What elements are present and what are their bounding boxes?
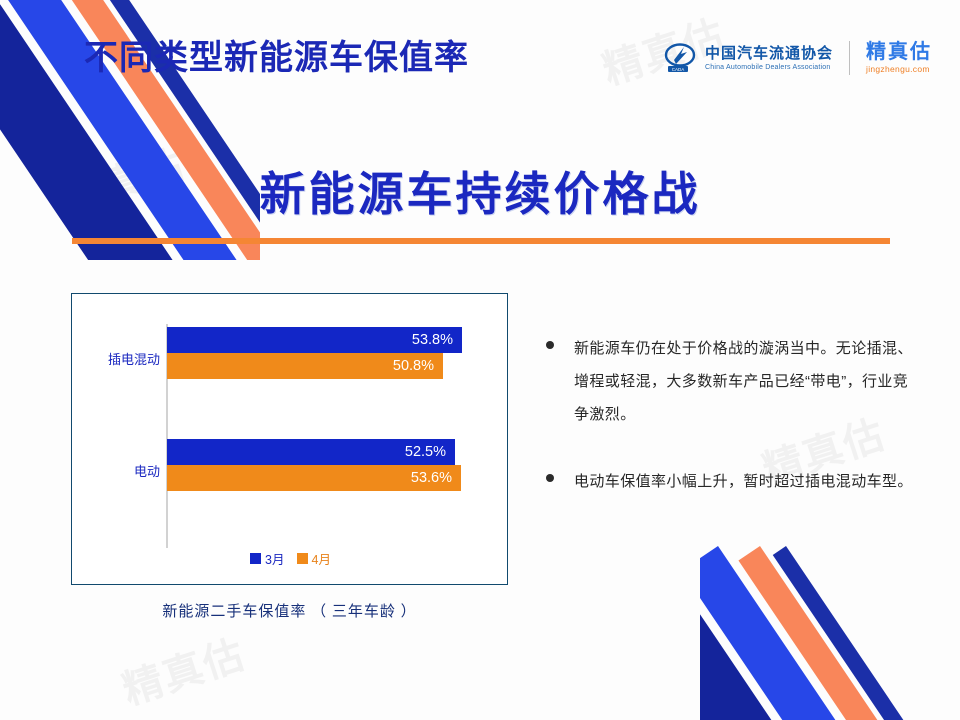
bullet-item: 电动车保值率小幅上升，暂时超过插电混动车型。	[540, 465, 920, 498]
cada-name-en: China Automobile Dealers Association	[705, 64, 833, 71]
svg-text:CADA: CADA	[672, 67, 685, 72]
chart-bar: 53.8%	[167, 327, 462, 353]
chart-plot-area: 插电混动 电动 53.8% 50.8% 52.5% 53.6% 3月	[72, 294, 509, 586]
slide-canvas: 精真估 精真估 精真估 精真估 不同类型新能源车保值率 CADA	[0, 0, 960, 720]
bullet-dot-icon	[546, 474, 554, 482]
chart-bar: 53.6%	[167, 465, 461, 491]
jingzhengu-logo: 精真估 jingzhengu.com	[866, 42, 932, 74]
main-title: 新能源车持续价格战	[0, 158, 960, 224]
logo-bar: CADA 中国汽车流通协会 China Automobile Dealers A…	[664, 36, 932, 80]
chart-bar-value: 53.8%	[412, 332, 453, 348]
bullet-dot-icon	[546, 341, 554, 349]
watermark: 精真估	[114, 622, 252, 716]
bullet-text: 电动车保值率小幅上升，暂时超过插电混动车型。	[574, 465, 913, 498]
header-title: 不同类型新能源车保值率	[84, 30, 469, 79]
chart-bar: 50.8%	[167, 353, 443, 379]
legend-label: 4月	[312, 549, 331, 568]
chart-category-label: 插电混动	[108, 349, 160, 368]
legend-item-april: 4月	[297, 549, 331, 568]
chart-category-label: 电动	[134, 461, 160, 480]
chart-bar-value: 52.5%	[405, 444, 446, 460]
cada-text: 中国汽车流通协会 China Automobile Dealers Associ…	[705, 46, 833, 71]
jingzhengu-url: jingzhengu.com	[866, 65, 932, 74]
cada-logo: CADA 中国汽车流通协会 China Automobile Dealers A…	[664, 41, 833, 75]
legend-label: 3月	[265, 549, 284, 568]
chart-bar: 52.5%	[167, 439, 455, 465]
chart-bar-value: 53.6%	[411, 470, 452, 486]
chart-container: 插电混动 电动 53.8% 50.8% 52.5% 53.6% 3月	[71, 293, 508, 585]
bullet-text: 新能源车仍在处于价格战的漩涡当中。无论插混、增程或轻混，大多数新车产品已经“带电…	[574, 332, 920, 431]
chart-caption: 新能源二手车保值率 （ 三年车龄 ）	[71, 600, 508, 621]
bullet-list: 新能源车仍在处于价格战的漩涡当中。无论插混、增程或轻混，大多数新车产品已经“带电…	[540, 332, 920, 532]
logo-divider	[849, 41, 850, 75]
chart-bar-value: 50.8%	[393, 358, 434, 374]
legend-swatch-blue	[250, 553, 261, 564]
legend-item-march: 3月	[250, 549, 284, 568]
cada-name-cn: 中国汽车流通协会	[705, 46, 833, 61]
jingzhengu-name-cn: 精真估	[866, 42, 932, 62]
cada-emblem-icon: CADA	[664, 41, 698, 75]
bullet-item: 新能源车仍在处于价格战的漩涡当中。无论插混、增程或轻混，大多数新车产品已经“带电…	[540, 332, 920, 431]
chart-legend: 3月 4月	[72, 549, 509, 568]
legend-swatch-orange	[297, 553, 308, 564]
title-underline-rule	[72, 238, 890, 244]
